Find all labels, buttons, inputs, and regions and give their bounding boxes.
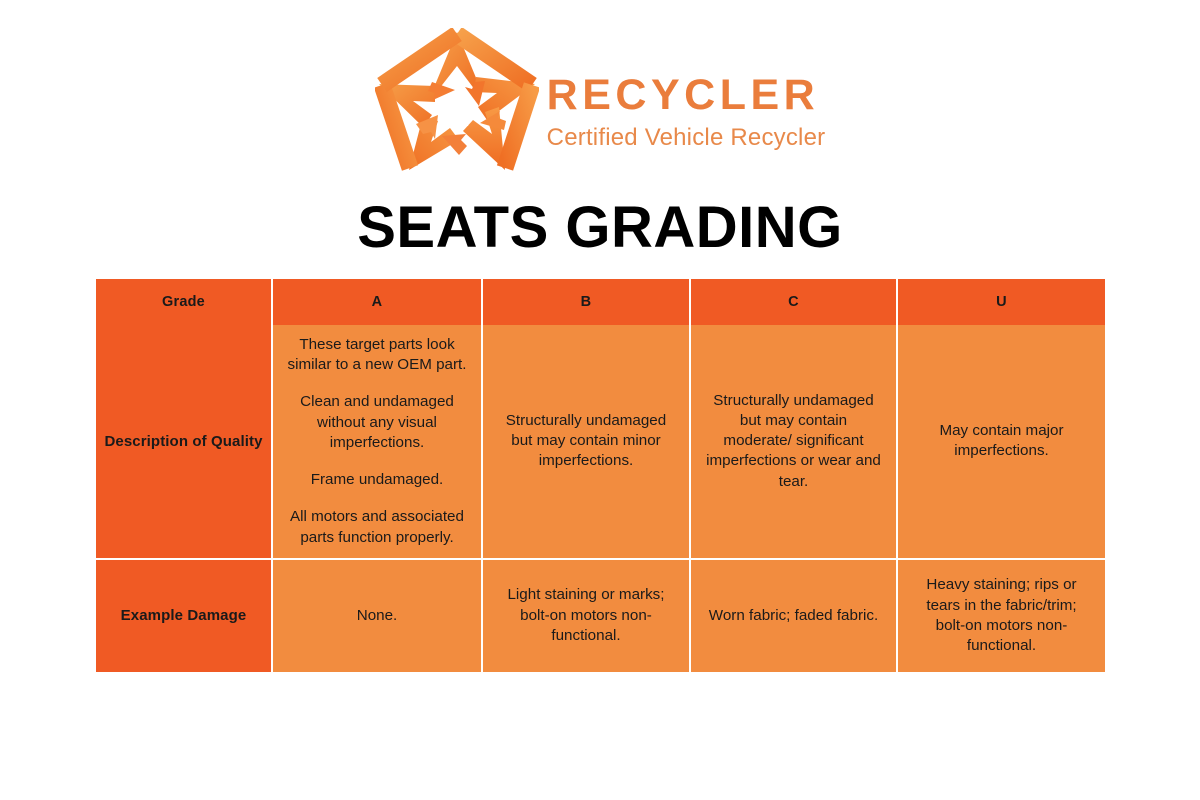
cell-description-a-para-4: All motors and associated parts function… — [287, 507, 467, 547]
table-header-row: Grade A B C U — [96, 279, 1105, 325]
logo-tagline: Certified Vehicle Recycler — [547, 122, 826, 153]
column-header-u: U — [898, 279, 1105, 325]
cell-description-b: Structurally undamaged but may contain m… — [483, 325, 691, 560]
column-header-a: A — [273, 279, 483, 325]
cell-description-a-para-2: Clean and undamaged without any visual i… — [287, 392, 467, 453]
cell-description-u: May contain major imperfections. — [898, 325, 1105, 560]
recycle-star-icon — [375, 28, 539, 174]
column-header-b: B — [483, 279, 691, 325]
logo-text-group: RECYCLER Certified Vehicle Recycler — [547, 49, 826, 153]
cell-description-a: These target parts look similar to a new… — [273, 325, 483, 560]
brand-logo: RECYCLER Certified Vehicle Recycler — [0, 28, 1200, 174]
cell-description-c: Structurally undamaged but may contain m… — [691, 325, 898, 560]
cell-damage-c: Worn fabric; faded fabric. — [691, 560, 898, 672]
cell-damage-a: None. — [273, 560, 483, 672]
cell-description-a-para-1: These target parts look similar to a new… — [287, 335, 467, 375]
logo-wordmark: RECYCLER — [547, 73, 826, 118]
table-row-example-damage: Example Damage None. Light staining or m… — [96, 560, 1105, 672]
logo-inner: RECYCLER Certified Vehicle Recycler — [375, 28, 826, 174]
cell-damage-b: Light staining or marks; bolt-on motors … — [483, 560, 691, 672]
cell-damage-u: Heavy staining; rips or tears in the fab… — [898, 560, 1105, 672]
column-header-c: C — [691, 279, 898, 325]
grading-poster: RECYCLER Certified Vehicle Recycler SEAT… — [0, 0, 1200, 800]
row-label-description-of-quality: Description of Quality — [96, 325, 273, 560]
column-header-grade: Grade — [96, 279, 273, 325]
cell-description-a-para-3: Frame undamaged. — [287, 470, 467, 490]
row-label-example-damage: Example Damage — [96, 560, 273, 672]
grading-table: Grade A B C U Description of Quality The… — [96, 279, 1105, 672]
table-row-description-of-quality: Description of Quality These target part… — [96, 325, 1105, 560]
page-title: SEATS GRADING — [0, 196, 1200, 261]
